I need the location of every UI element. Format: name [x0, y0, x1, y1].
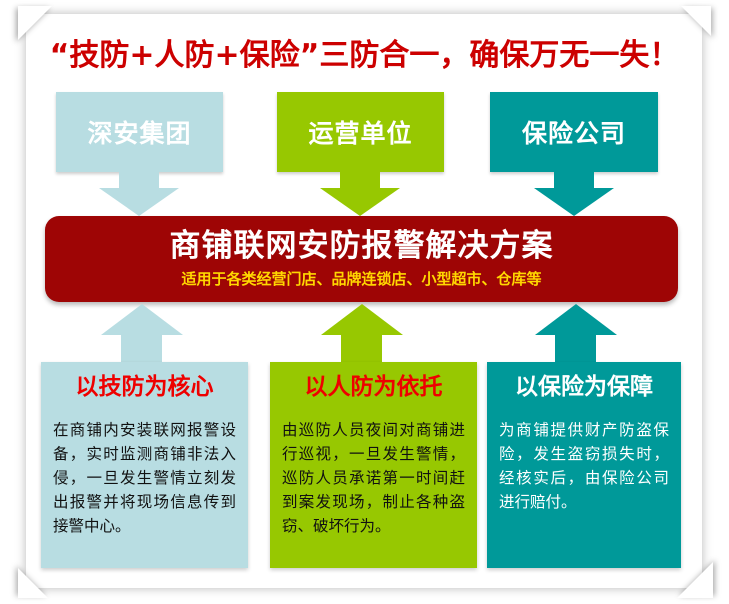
top-box-label: 深安集团 [87, 114, 191, 150]
solution-banner: 商铺联网安防报警解决方案 适用于各类经营门店、品牌连锁店、小型超市、仓库等 [45, 216, 678, 302]
down-arrow-stem-middle-icon [340, 172, 380, 188]
top-box-label: 运营单位 [308, 114, 412, 150]
up-arrow-stem-middle-icon [341, 335, 382, 363]
pillar-card-body: 为商铺提供财产防盗保险，发生盗窃损失时，经核实后，由保险公司进行赔付。 [499, 418, 669, 514]
up-arrow-stem-left-icon [121, 335, 162, 363]
pillar-card-body: 由巡防人员夜间对商铺进行巡视，一旦发生警情，巡防人员承诺第一时间赶到案发现场，制… [282, 418, 465, 538]
page-fold-bottom-right-icon [677, 562, 713, 598]
top-box-operations-unit: 运营单位 [277, 92, 444, 172]
banner-subtitle: 适用于各类经营门店、品牌连锁店、小型超市、仓库等 [181, 268, 541, 289]
page-fold-bottom-left-icon [18, 568, 48, 598]
pillar-card-technical-defense: 以技防为核心 在商铺内安装联网报警设备，实时监测商铺非法入侵，一旦发生警情立刻发… [41, 362, 248, 568]
page-headline: “技防+人防+保险”三防合一，确保万无一失！ [0, 30, 729, 74]
down-arrow-stem-left-icon [119, 172, 159, 188]
down-arrow-stem-right-icon [554, 172, 594, 188]
down-arrow-head-right-icon [534, 188, 614, 216]
up-arrow-head-left-icon [101, 304, 183, 335]
up-arrow-head-right-icon [535, 304, 617, 335]
up-arrow-head-middle-icon [321, 304, 403, 335]
pillar-card-insurance-guarantee: 以保险为保障 为商铺提供财产防盗保险，发生盗窃损失时，经核实后，由保险公司进行赔… [487, 362, 681, 568]
top-box-label: 保险公司 [522, 114, 626, 150]
down-arrow-head-middle-icon [320, 188, 400, 216]
infographic-page: “技防+人防+保险”三防合一，确保万无一失！ 深安集团 运营单位 保险公司 商铺… [0, 0, 729, 604]
pillar-card-title: 以保险为保障 [499, 374, 669, 402]
pillar-card-title: 以技防为核心 [53, 374, 236, 402]
down-arrow-head-left-icon [99, 188, 179, 216]
top-box-insurance-company: 保险公司 [490, 92, 658, 172]
pillar-card-body: 在商铺内安装联网报警设备，实时监测商铺非法入侵，一旦发生警情立刻发出报警并将现场… [53, 418, 236, 538]
pillar-card-human-defense: 以人防为依托 由巡防人员夜间对商铺进行巡视，一旦发生警情，巡防人员承诺第一时间赶… [270, 362, 477, 568]
pillar-card-title: 以人防为依托 [282, 374, 465, 402]
up-arrow-stem-right-icon [555, 335, 596, 363]
top-box-shenan-group: 深安集团 [56, 92, 223, 172]
banner-title: 商铺联网安防报警解决方案 [170, 229, 554, 263]
